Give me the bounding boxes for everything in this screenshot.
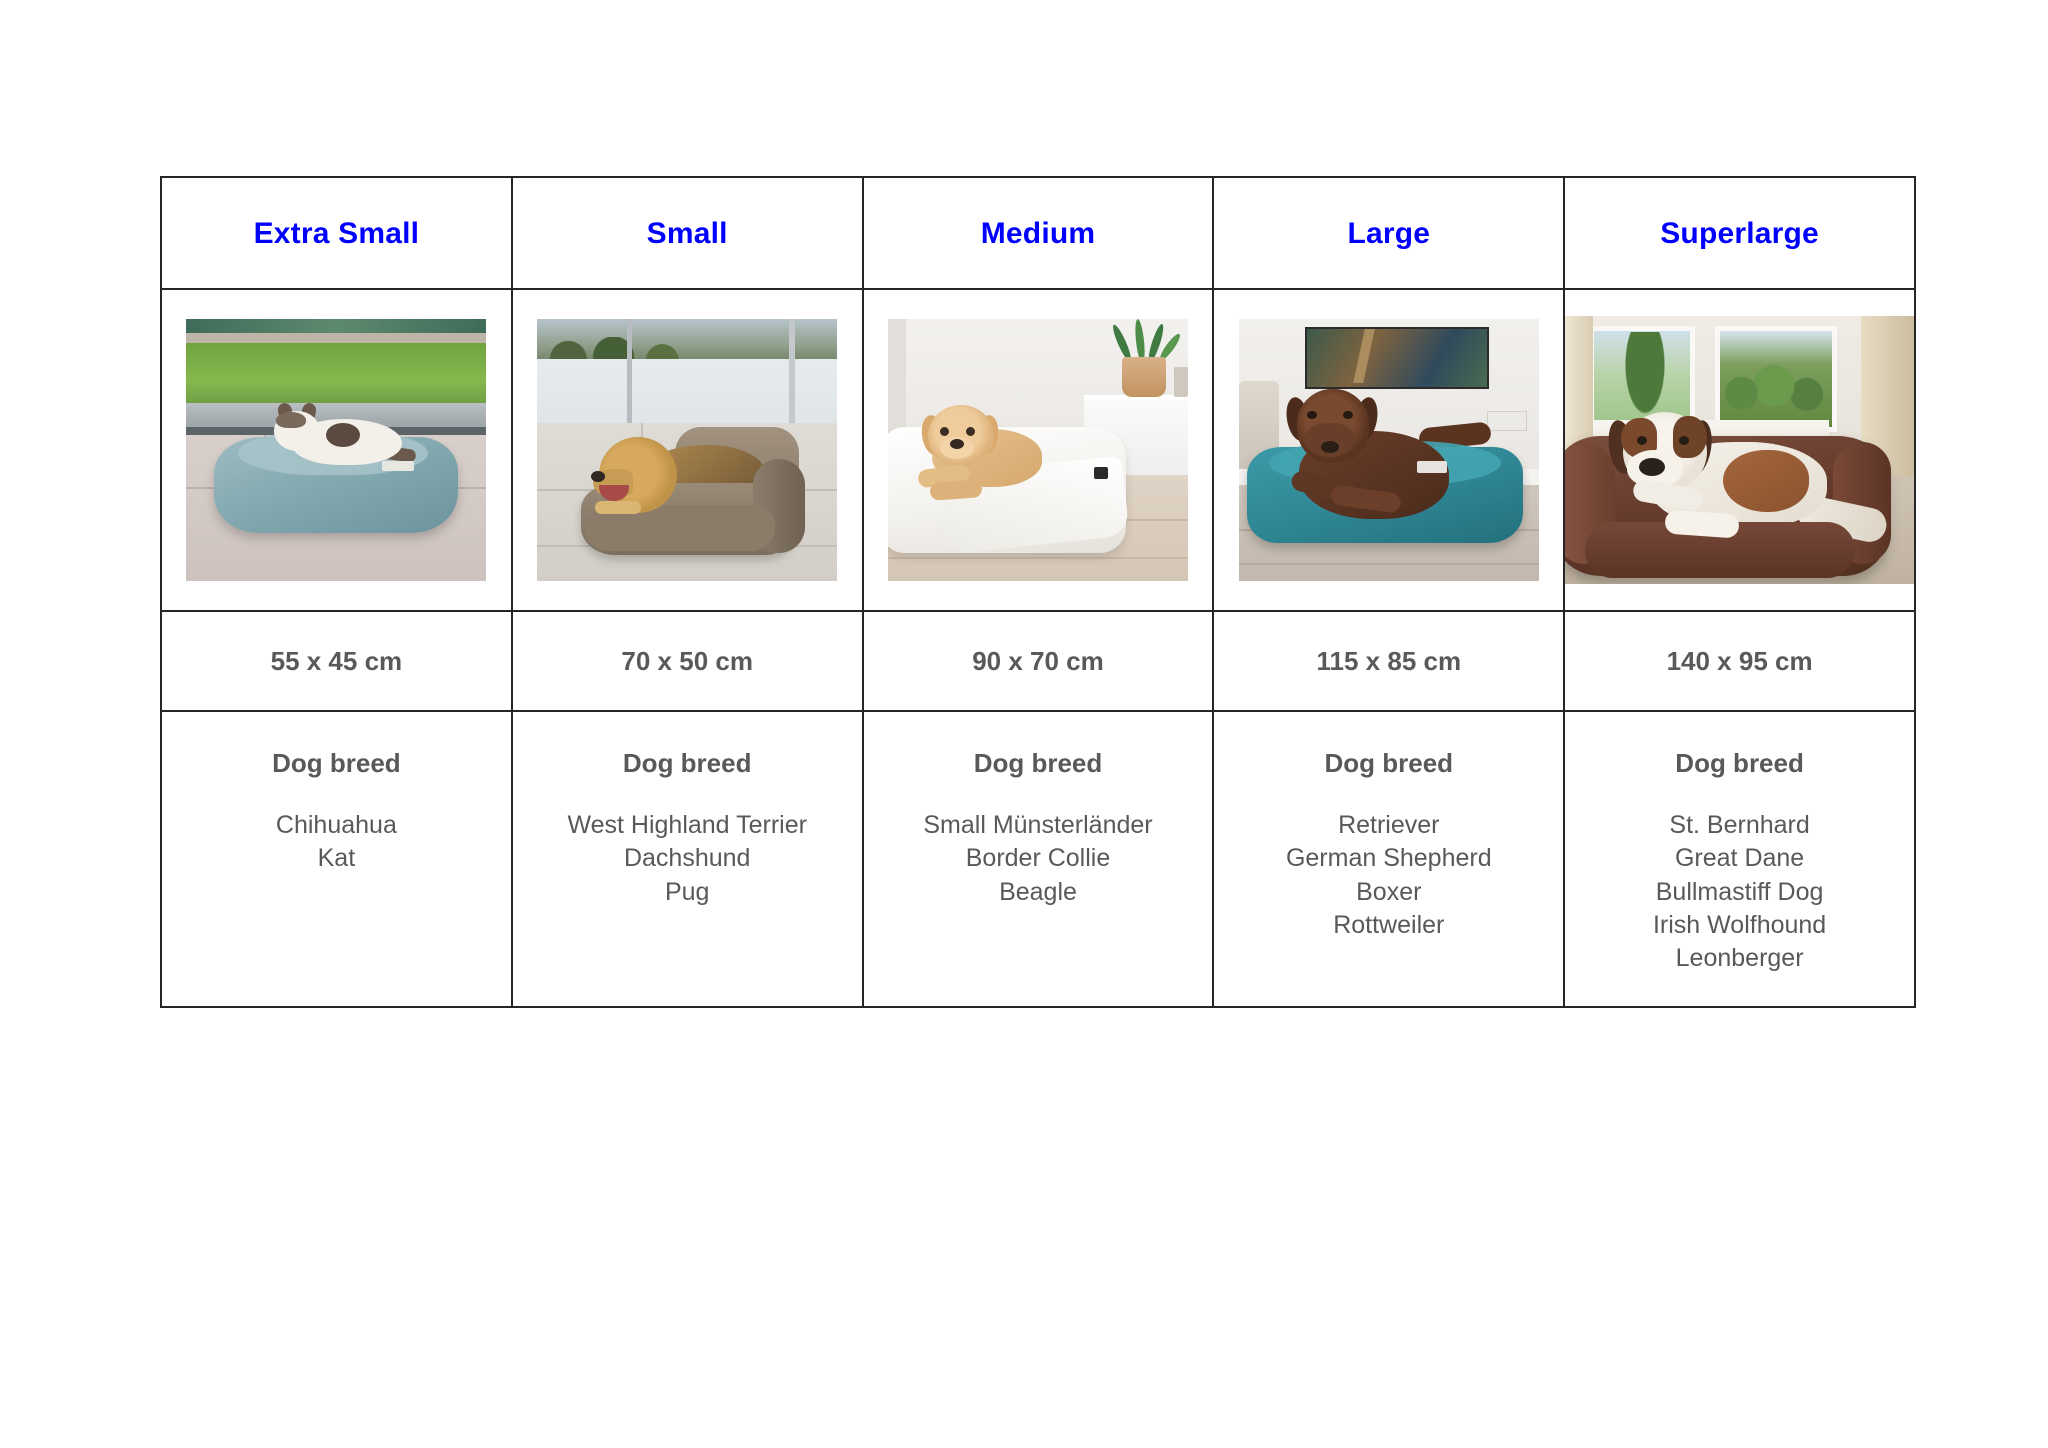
breed-item: St. Bernhard (1565, 809, 1914, 842)
breed-item: West Highland Terrier (513, 809, 862, 842)
cell-category-extra-small: Extra Small (161, 177, 512, 289)
breed-list-large: Retriever German Shepherd Boxer Rottweil… (1214, 809, 1563, 942)
breed-title-superlarge: Dog breed (1565, 748, 1914, 779)
breed-list-superlarge: St. Bernhard Great Dane Bullmastiff Dog … (1565, 809, 1914, 975)
photo-wrap-medium (864, 290, 1213, 610)
breed-title-small: Dog breed (513, 748, 862, 779)
category-label-extra-small: Extra Small (162, 217, 511, 250)
photo-lawn (186, 343, 486, 405)
cell-category-large: Large (1213, 177, 1564, 289)
photo-candle (1174, 367, 1188, 397)
photo-brand-label (1094, 467, 1108, 479)
cell-photo-large (1213, 289, 1564, 611)
photo-cat-face-marking (276, 412, 306, 428)
photo-puppy-eye-left (940, 427, 949, 436)
table-row-photos (161, 289, 1915, 611)
breed-block-superlarge: Dog breed St. Bernhard Great Dane Bullma… (1565, 712, 1914, 975)
breed-item: Border Collie (864, 842, 1213, 875)
breed-item: German Shepherd (1214, 842, 1563, 875)
dimensions-label-superlarge: 140 x 95 cm (1565, 646, 1914, 677)
breed-block-large: Dog breed Retriever German Shepherd Boxe… (1214, 712, 1563, 942)
photo-floor-plank-seam-2 (888, 557, 1188, 559)
breed-block-medium: Dog breed Small Münsterländer Border Col… (864, 712, 1213, 909)
cell-dimensions-large: 115 x 85 cm (1213, 611, 1564, 711)
cell-photo-extra-small (161, 289, 512, 611)
cell-photo-small (512, 289, 863, 611)
breed-title-extra-small: Dog breed (162, 748, 511, 779)
breed-title-medium: Dog breed (864, 748, 1213, 779)
photo-medium-puppy-on-bed (888, 319, 1188, 581)
dog-bed-size-table: Extra Small Small Medium Large Superlarg… (160, 176, 1916, 1008)
breed-item: Beagle (864, 876, 1213, 909)
photo-brand-label (1417, 461, 1447, 473)
photo-brand-label (382, 461, 414, 471)
photo-labrador-nose (1321, 441, 1339, 453)
photo-st-bernard-paw-right (1664, 509, 1739, 538)
category-label-large: Large (1214, 217, 1563, 250)
page-canvas: Extra Small Small Medium Large Superlarg… (0, 0, 2048, 1448)
photo-window-mullion-left (627, 319, 632, 439)
cell-dimensions-small: 70 x 50 cm (512, 611, 863, 711)
table-row-dimensions: 55 x 45 cm 70 x 50 cm 90 x 70 cm 115 x 8… (161, 611, 1915, 711)
photo-wrap-superlarge (1565, 290, 1914, 610)
cell-category-small: Small (512, 177, 863, 289)
cell-breeds-superlarge: Dog breed St. Bernhard Great Dane Bullma… (1564, 711, 1915, 1007)
photo-floor-plank-seam-2 (1239, 563, 1539, 565)
breed-list-small: West Highland Terrier Dachshund Pug (513, 809, 862, 909)
dimensions-label-extra-small: 55 x 45 cm (162, 646, 511, 677)
dimensions-label-large: 115 x 85 cm (1214, 646, 1563, 677)
cell-category-medium: Medium (863, 177, 1214, 289)
photo-garden-tree (1625, 332, 1665, 414)
breed-title-large: Dog breed (1214, 748, 1563, 779)
breed-item: Boxer (1214, 876, 1563, 909)
breed-item: Kat (162, 842, 511, 875)
photo-st-bernard-mask-right (1673, 416, 1707, 458)
breed-item: Great Dane (1565, 842, 1914, 875)
breed-item: Irish Wolfhound (1565, 909, 1914, 942)
breed-item: Bullmastiff Dog (1565, 876, 1914, 909)
breed-list-extra-small: Chihuahua Kat (162, 809, 511, 876)
cell-photo-medium (863, 289, 1214, 611)
breed-block-extra-small: Dog breed Chihuahua Kat (162, 712, 511, 876)
cell-dimensions-medium: 90 x 70 cm (863, 611, 1214, 711)
photo-labrador-eye-left (1307, 411, 1317, 419)
cell-breeds-extra-small: Dog breed Chihuahua Kat (161, 711, 512, 1007)
breed-block-small: Dog breed West Highland Terrier Dachshun… (513, 712, 862, 909)
photo-wall-socket (1487, 411, 1527, 431)
photo-wrap-large (1214, 290, 1563, 610)
cell-dimensions-superlarge: 140 x 95 cm (1564, 611, 1915, 711)
breed-list-medium: Small Münsterländer Border Collie Beagle (864, 809, 1213, 909)
category-label-small: Small (513, 217, 862, 250)
photo-puppy-eye-right (966, 427, 975, 436)
photo-garden-hedge (1721, 356, 1823, 418)
photo-wrap-extra-small (162, 290, 511, 610)
cell-dimensions-extra-small: 55 x 45 cm (161, 611, 512, 711)
photo-extra-small-cat-on-bed (186, 319, 486, 581)
cell-photo-superlarge (1564, 289, 1915, 611)
photo-puppy-nose (950, 439, 964, 449)
photo-st-bernard-saddle-marking (1723, 450, 1809, 512)
photo-small-terrier-on-bed (537, 319, 837, 581)
photo-plant-pot (1122, 357, 1166, 397)
table-row-breeds: Dog breed Chihuahua Kat Dog breed West H… (161, 711, 1915, 1007)
photo-superlarge-st-bernard-on-bed (1565, 316, 1914, 584)
breed-item: Small Münsterländer (864, 809, 1213, 842)
table-row-categories: Extra Small Small Medium Large Superlarg… (161, 177, 1915, 289)
breed-item: Chihuahua (162, 809, 511, 842)
dimensions-label-small: 70 x 50 cm (513, 646, 862, 677)
category-label-superlarge: Superlarge (1565, 217, 1914, 250)
photo-labrador-eye-right (1343, 411, 1353, 419)
category-label-medium: Medium (864, 217, 1213, 250)
breed-item: Leonberger (1565, 942, 1914, 975)
cell-breeds-large: Dog breed Retriever German Shepherd Boxe… (1213, 711, 1564, 1007)
cell-breeds-small: Dog breed West Highland Terrier Dachshun… (512, 711, 863, 1007)
breed-item: Retriever (1214, 809, 1563, 842)
breed-item: Pug (513, 876, 862, 909)
cell-breeds-medium: Dog breed Small Münsterländer Border Col… (863, 711, 1214, 1007)
dimensions-label-medium: 90 x 70 cm (864, 646, 1213, 677)
breed-item: Rottweiler (1214, 909, 1563, 942)
photo-st-bernard-nose (1639, 458, 1665, 476)
photo-wrap-small (513, 290, 862, 610)
cell-category-superlarge: Superlarge (1564, 177, 1915, 289)
photo-large-labrador-on-bed (1239, 319, 1539, 581)
photo-wall-artwork (1305, 327, 1489, 389)
breed-item: Dachshund (513, 842, 862, 875)
photo-puppy-paw-right (929, 479, 982, 501)
photo-dog-paw (595, 501, 641, 514)
